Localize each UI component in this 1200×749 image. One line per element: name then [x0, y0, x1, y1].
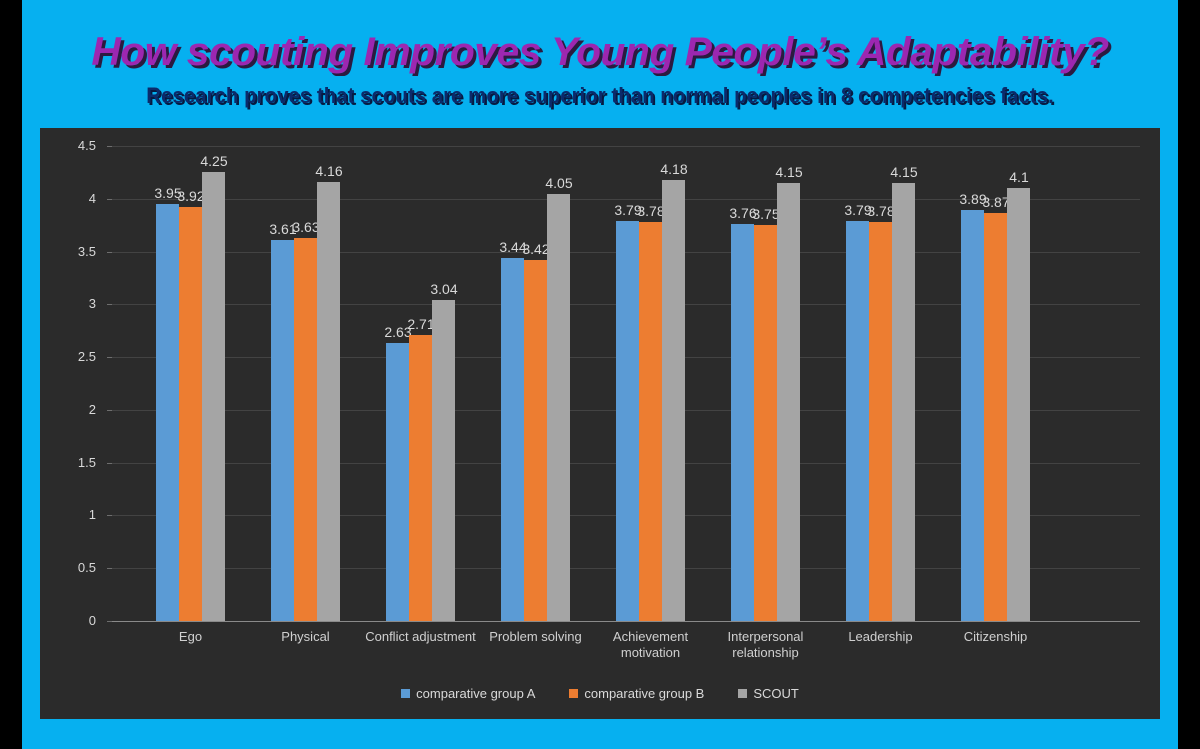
bar[interactable] — [639, 222, 662, 621]
bar[interactable] — [984, 213, 1007, 622]
bar-value-label: 4.16 — [306, 163, 352, 179]
bar[interactable] — [616, 221, 639, 621]
bar-value-label: 4.15 — [881, 164, 927, 180]
y-axis-tick-mark — [107, 199, 112, 200]
legend-label: comparative group B — [584, 686, 704, 701]
poster-header: How scouting Improves Young People’s Ada… — [22, 0, 1178, 128]
bar-value-label: 4.15 — [766, 164, 812, 180]
bar-value-label: 4.1 — [996, 169, 1042, 185]
poster-canvas: How scouting Improves Young People’s Ada… — [22, 0, 1178, 749]
x-axis-tick-label-line: relationship — [691, 645, 841, 661]
y-axis-tick-label: 4 — [44, 191, 96, 206]
y-axis-tick-label: 3.5 — [44, 244, 96, 259]
bar[interactable] — [271, 240, 294, 621]
bar[interactable] — [754, 225, 777, 621]
legend-swatch — [401, 689, 410, 698]
y-axis-tick-label: 1 — [44, 507, 96, 522]
bar-group: 3.443.424.05Problem solving — [501, 146, 570, 621]
y-axis-tick-label: 0 — [44, 613, 96, 628]
chart-panel: 00.511.522.533.544.53.953.924.25Ego3.613… — [40, 128, 1160, 719]
bar[interactable] — [432, 300, 455, 621]
bar[interactable] — [777, 183, 800, 621]
bar-group: 3.793.784.15Leadership — [846, 146, 915, 621]
y-axis-tick-label: 4.5 — [44, 138, 96, 153]
y-axis-tick-label: 3 — [44, 296, 96, 311]
bar[interactable] — [501, 258, 524, 621]
chart-legend: comparative group Acomparative group BSC… — [40, 686, 1160, 701]
bar-group: 3.893.874.1Citizenship — [961, 146, 1030, 621]
legend-label: SCOUT — [753, 686, 799, 701]
y-axis-tick-mark — [107, 463, 112, 464]
plot-area: 00.511.522.533.544.53.953.924.25Ego3.613… — [112, 146, 1140, 621]
bar[interactable] — [202, 172, 225, 621]
bar[interactable] — [409, 335, 432, 621]
bar[interactable] — [179, 207, 202, 621]
bar[interactable] — [294, 238, 317, 621]
legend-label: comparative group A — [416, 686, 535, 701]
page-subtitle: Research proves that scouts are more sup… — [62, 83, 1137, 109]
bar[interactable] — [524, 260, 547, 621]
y-axis-tick-mark — [107, 146, 112, 147]
bar[interactable] — [892, 183, 915, 621]
y-axis-tick-label: 2 — [44, 402, 96, 417]
y-axis-tick-label: 1.5 — [44, 455, 96, 470]
bar[interactable] — [386, 343, 409, 621]
bar-group: 3.793.784.18Achievementmotivation — [616, 146, 685, 621]
bar[interactable] — [156, 204, 179, 621]
bar[interactable] — [662, 180, 685, 621]
y-axis-tick-mark — [107, 515, 112, 516]
y-axis-tick-mark — [107, 304, 112, 305]
legend-item[interactable]: comparative group B — [569, 686, 704, 701]
y-axis-tick-mark — [107, 357, 112, 358]
bar-value-label: 4.18 — [651, 161, 697, 177]
y-axis-tick-mark — [107, 252, 112, 253]
legend-swatch — [738, 689, 747, 698]
legend-swatch — [569, 689, 578, 698]
bar[interactable] — [731, 224, 754, 621]
y-axis-tick-label: 0.5 — [44, 560, 96, 575]
legend-item[interactable]: SCOUT — [738, 686, 799, 701]
gridline — [112, 621, 1140, 622]
bar[interactable] — [869, 222, 892, 621]
bar-value-label: 4.25 — [191, 153, 237, 169]
bar-group: 2.632.713.04Conflict adjustment — [386, 146, 455, 621]
y-axis-tick-label: 2.5 — [44, 349, 96, 364]
bar-group: 3.763.754.15Interpersonalrelationship — [731, 146, 800, 621]
y-axis-tick-mark — [107, 568, 112, 569]
bar-group: 3.953.924.25Ego — [156, 146, 225, 621]
bar-group: 3.613.634.16Physical — [271, 146, 340, 621]
bar[interactable] — [846, 221, 869, 621]
bar[interactable] — [317, 182, 340, 621]
x-axis-tick-label: Citizenship — [921, 629, 1071, 645]
y-axis-tick-mark — [107, 621, 112, 622]
bar[interactable] — [1007, 188, 1030, 621]
x-axis-tick-label-line: Citizenship — [921, 629, 1071, 645]
bar[interactable] — [547, 194, 570, 622]
bar-value-label: 4.05 — [536, 175, 582, 191]
bar-value-label: 3.04 — [421, 281, 467, 297]
legend-item[interactable]: comparative group A — [401, 686, 535, 701]
page-title: How scouting Improves Young People’s Ada… — [22, 30, 1178, 75]
bar[interactable] — [961, 210, 984, 621]
y-axis-tick-mark — [107, 410, 112, 411]
